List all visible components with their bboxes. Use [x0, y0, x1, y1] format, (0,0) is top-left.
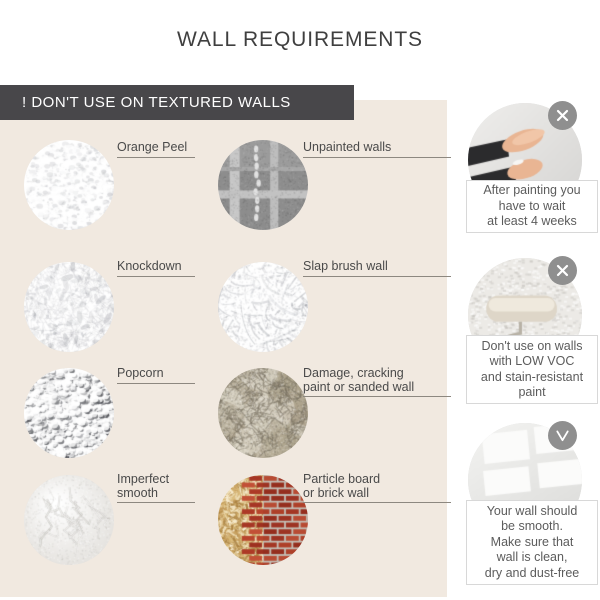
- page-title: WALL REQUIREMENTS: [0, 28, 600, 52]
- warning-ribbon: ! DON'T USE ON TEXTURED WALLS: [0, 85, 354, 120]
- texture-swatch-damaged-wall: [218, 368, 308, 458]
- texture-swatch-slap-brush-wall: [218, 262, 308, 352]
- cross-icon: [548, 101, 577, 130]
- tip-text: Don't use on walls with LOW VOC and stai…: [466, 335, 598, 404]
- texture-swatch-particle-board-brick: [218, 475, 308, 565]
- texture-swatch-popcorn: [24, 368, 114, 458]
- texture-label: Damage, cracking paint or sanded wall: [303, 367, 451, 397]
- texture-grid: Orange PeelUnpainted wallsKnockdownSlap …: [0, 120, 447, 597]
- texture-swatch-unpainted-walls: [218, 140, 308, 230]
- texture-label: Imperfect smooth: [117, 473, 195, 503]
- texture-label: Orange Peel: [117, 141, 195, 158]
- tip-card: Don't use on walls with LOW VOC and stai…: [456, 258, 600, 404]
- texture-label: Knockdown: [117, 260, 195, 277]
- tip-card: After painting you have to wait at least…: [456, 103, 600, 233]
- infographic-root: WALL REQUIREMENTS ! DON'T USE ON TEXTURE…: [0, 0, 600, 600]
- texture-swatch-orange-peel: [24, 140, 114, 230]
- check-icon: [548, 421, 577, 450]
- texture-label: Unpainted walls: [303, 141, 451, 158]
- tip-text: After painting you have to wait at least…: [466, 180, 598, 233]
- warning-ribbon-label: ! DON'T USE ON TEXTURED WALLS: [0, 94, 291, 111]
- texture-label: Slap brush wall: [303, 260, 451, 277]
- cross-icon: [548, 256, 577, 285]
- texture-label: Particle board or brick wall: [303, 473, 451, 503]
- texture-swatch-knockdown: [24, 262, 114, 352]
- texture-swatch-imperfect-smooth: [24, 475, 114, 565]
- texture-label: Popcorn: [117, 367, 195, 384]
- tip-text: Your wall should be smooth. Make sure th…: [466, 500, 598, 585]
- tip-card: Your wall should be smooth. Make sure th…: [456, 423, 600, 585]
